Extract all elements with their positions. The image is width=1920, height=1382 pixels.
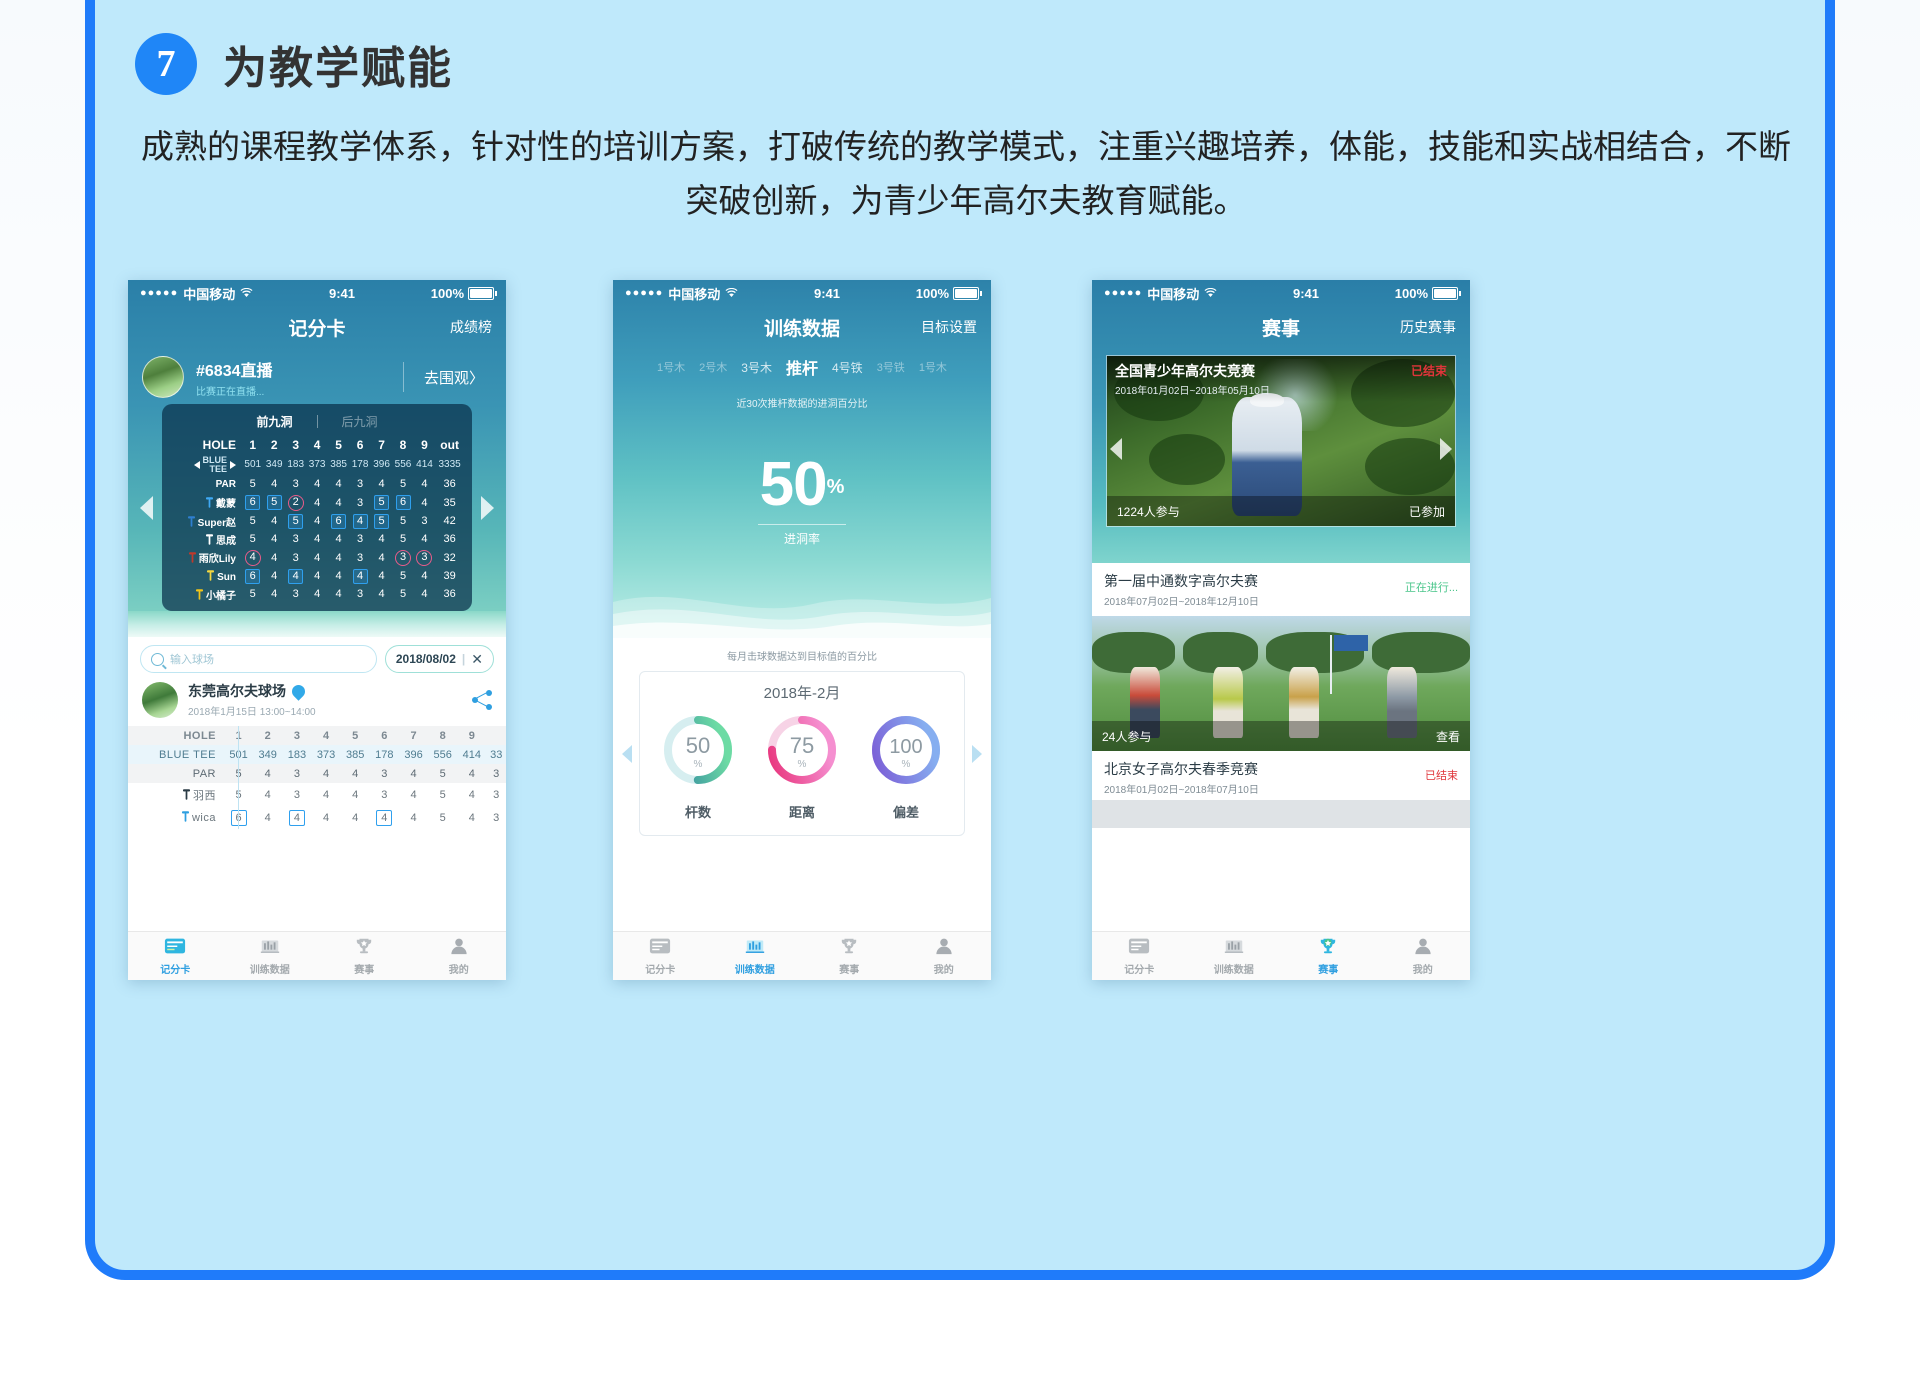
score-cell: 4	[371, 530, 392, 548]
club-tab[interactable]: 3号铁	[877, 359, 905, 375]
score-cell: 3	[349, 530, 370, 548]
phone-scorecard: ●●●●● 中国移动 9:41 100% 记分卡 成	[128, 280, 506, 980]
nav-title: 训练数据	[764, 314, 840, 341]
par-cell: 5	[242, 475, 263, 493]
ring-label: 距离	[763, 802, 841, 821]
filter-row: 输入球场 2018/08/02 | ✕	[128, 637, 506, 679]
yardage-cell: 385	[341, 745, 370, 764]
wifi-icon	[1204, 288, 1217, 298]
hole-number: 4	[311, 726, 340, 745]
tab-trophy[interactable]: 赛事	[317, 932, 412, 980]
score-cell: 6	[328, 512, 349, 530]
chevron-left-icon[interactable]	[622, 745, 632, 763]
score-cell: 4	[414, 493, 435, 512]
player-name: wica	[128, 806, 224, 829]
battery-percent-label: 100%	[1395, 286, 1428, 301]
course-row[interactable]: 东莞高尔夫球场 2018年1月15日 13:00~14:00	[128, 679, 506, 726]
par-cell: 3	[349, 475, 370, 493]
hole-number: 4	[306, 436, 327, 454]
tab-training-data[interactable]: 训练数据	[1187, 932, 1282, 980]
watch-live-button[interactable]: 去围观〉	[416, 367, 492, 388]
yardage-cell: 414	[457, 745, 486, 764]
training-data-icon	[744, 937, 766, 958]
tab-scorecard[interactable]: 记分卡	[1092, 932, 1187, 980]
ring-label: 偏差	[867, 802, 945, 821]
section-description: 成熟的课程教学体系，针对性的培训方案，打破传统的教学模式，注重兴趣培养，体能，技…	[131, 120, 1801, 229]
rings-card: 2018年-2月 50%杆数75%距离100%偏差	[639, 671, 965, 836]
par-cell: 5	[392, 475, 413, 493]
date-filter[interactable]: 2018/08/02 | ✕	[385, 645, 494, 673]
score-cell: 3	[414, 548, 435, 567]
phone1-lower: 输入球场 2018/08/02 | ✕ 东莞高尔夫球场 2018年1月15日	[128, 637, 506, 829]
yardage-cell: 178	[370, 745, 399, 764]
score-cell: 6	[242, 567, 263, 585]
yardage-extra: 33	[486, 745, 506, 764]
score-cell: 4	[349, 567, 370, 585]
par-label: PAR	[170, 475, 242, 493]
score-cell: 4	[253, 806, 282, 829]
yardage-cell: 373	[306, 454, 327, 475]
search-icon	[151, 653, 164, 666]
score-cell: 4	[399, 806, 428, 829]
player-name: Super赵	[170, 512, 242, 530]
score-cell: 4	[414, 567, 435, 585]
scorecard-carousel: 前九洞 后九洞 HOLE123456789outBLUETEE501349183…	[140, 404, 494, 611]
score-cell: 5	[242, 530, 263, 548]
featured-event-card[interactable]: 全国青少年高尔夫竞赛 2018年01月02日~2018年05月10日 已结束 1…	[1106, 355, 1456, 527]
course-name-row: 东莞高尔夫球场	[188, 681, 316, 701]
tab-scorecard[interactable]: 记分卡	[613, 932, 708, 980]
rings-caption: 每月击球数据达到目标值的百分比	[613, 648, 991, 663]
search-input[interactable]: 输入球场	[140, 645, 377, 673]
tab-profile[interactable]: 我的	[897, 932, 992, 980]
club-tab[interactable]: 1号木	[657, 359, 685, 375]
par-cell: 5	[428, 764, 457, 783]
score-cell: 4	[263, 567, 284, 585]
svg-text:100: 100	[889, 736, 922, 758]
tab-bar[interactable]: 记分卡训练数据赛事我的	[613, 931, 991, 980]
yardage-cell: 396	[399, 745, 428, 764]
wave-decoration	[613, 568, 991, 638]
live-match-row[interactable]: #6834直播 比赛正在直播... 去围观〉	[128, 348, 506, 404]
list-item[interactable]: 北京女子高尔夫春季竞赛 2018年01月02日~2018年07月10日 已结束	[1092, 751, 1470, 800]
score-cell: 4	[263, 585, 284, 603]
signal-dots-icon: ●●●●●	[625, 287, 663, 299]
hole-number: 5	[328, 436, 349, 454]
phone1-navbar: 记分卡 成绩榜	[128, 306, 506, 348]
score-cell: 4	[414, 530, 435, 548]
tab-trophy[interactable]: 赛事	[1281, 932, 1376, 980]
hole-number: 8	[392, 436, 413, 454]
score-cell: 5	[428, 783, 457, 806]
hole-number: 5	[341, 726, 370, 745]
carrier-label: 中国移动	[668, 284, 720, 303]
phone-events: ●●●●● 中国移动 9:41 100% 赛事 历史赛	[1092, 280, 1470, 980]
progress-ring: 50%杆数	[659, 711, 737, 821]
score-total: 36	[435, 585, 464, 603]
battery-icon	[468, 287, 494, 300]
leaderboard-link[interactable]: 成绩榜	[450, 317, 492, 337]
chevron-left-icon[interactable]	[1110, 438, 1122, 460]
phone2-navbar: 训练数据 目标设置	[613, 306, 991, 348]
phone1-header: ●●●●● 中国移动 9:41 100% 记分卡 成	[128, 280, 506, 637]
tab-scorecard[interactable]: 记分卡	[128, 932, 223, 980]
score-cell: 3	[349, 493, 370, 512]
tab-training-data[interactable]: 训练数据	[223, 932, 318, 980]
score-cell: 4	[349, 512, 370, 530]
nine-hole-tabs[interactable]: 前九洞 后九洞	[170, 410, 464, 436]
yardage-cell: 349	[263, 454, 284, 475]
club-tabs[interactable]: 1号木2号木3号木推杆4号铁3号铁1号木	[613, 348, 991, 383]
status-badge: 已结束	[1411, 362, 1447, 379]
page-background: 7 为教学赋能 成熟的课程教学体系，针对性的培训方案，打破传统的教学模式，注重兴…	[0, 0, 1920, 1382]
score-cell: 4	[371, 567, 392, 585]
wifi-icon	[725, 288, 738, 298]
tab-label: 我的	[934, 961, 954, 976]
svg-text:75: 75	[790, 733, 814, 758]
scorecard-icon	[649, 937, 671, 958]
clock-label: 9:41	[329, 286, 355, 301]
nav-title: 赛事	[1262, 314, 1300, 341]
par-cell: 4	[457, 764, 486, 783]
hole-number: 1	[242, 436, 263, 454]
date-value: 2018/08/02	[396, 652, 456, 666]
score-total: 39	[435, 567, 464, 585]
tab-label: 我的	[449, 961, 469, 976]
scorecard-table: HOLE123456789outBLUETEE50134918337338517…	[170, 436, 464, 603]
wifi-icon	[240, 288, 253, 298]
hole-rate-stat: 50% 进洞率	[613, 454, 991, 547]
featured-event-header: 全国青少年高尔夫竞赛 2018年01月02日~2018年05月10日 已结束	[1107, 356, 1455, 402]
tab-training-data[interactable]: 训练数据	[708, 932, 803, 980]
score-cell: 5	[371, 493, 392, 512]
tab-bar[interactable]: 记分卡训练数据赛事我的	[128, 931, 506, 980]
table-row: 雨欣Lily44344343332	[170, 548, 464, 567]
trophy-icon	[838, 937, 860, 958]
par-cell: 4	[399, 764, 428, 783]
yardage-cell: 373	[311, 745, 340, 764]
player-name: 戴蒙	[170, 493, 242, 512]
tab-label: 赛事	[839, 961, 859, 976]
hole-number: 3	[282, 726, 311, 745]
player-name: 思成	[170, 530, 242, 548]
score-cell: 3	[370, 783, 399, 806]
par-cell: 4	[311, 764, 340, 783]
participants-count: 24人参与	[1102, 728, 1151, 745]
feature-panel: 7 为教学赋能 成熟的课程教学体系，针对性的培训方案，打破传统的教学模式，注重兴…	[85, 0, 1835, 1280]
chevron-right-icon[interactable]	[481, 496, 494, 520]
tab-trophy[interactable]: 赛事	[802, 932, 897, 980]
featured-event-date: 2018年01月02日~2018年05月10日	[1115, 382, 1447, 397]
event-footer: 24人参与 查看	[1092, 721, 1470, 751]
score-cell: 4	[311, 806, 340, 829]
carrier-label: 中国移动	[1147, 284, 1199, 303]
course-datetime: 2018年1月15日 13:00~14:00	[188, 703, 316, 718]
score-cell: 3	[414, 512, 435, 530]
hole-number: 2	[263, 436, 284, 454]
list-item[interactable]: 第一届中通数字高尔夫赛 2018年07月02日~2018年12月10日 正在进行…	[1092, 563, 1470, 612]
score-total: 32	[435, 548, 464, 567]
par-total: 36	[435, 475, 464, 493]
par-extra: 3	[486, 764, 506, 783]
trophy-icon	[1317, 937, 1339, 958]
score-cell: 4	[263, 530, 284, 548]
score-cell: 4	[306, 493, 327, 512]
score-cell: 5	[263, 493, 284, 512]
course-avatar	[142, 682, 178, 718]
featured-event-title: 全国青少年高尔夫竞赛	[1115, 361, 1447, 381]
tab-bar[interactable]: 记分卡训练数据赛事我的	[1092, 931, 1470, 980]
svg-text:%: %	[902, 759, 911, 770]
par-cell: 4	[306, 475, 327, 493]
yardage-cell: 183	[282, 745, 311, 764]
score-cell: 4	[457, 783, 486, 806]
table-row: Super赵54546455342	[170, 512, 464, 530]
score-cell: 4	[263, 512, 284, 530]
score-cell: 3	[282, 783, 311, 806]
score-cell: 4	[242, 548, 263, 567]
score-cell: 4	[399, 783, 428, 806]
score-total: 35	[435, 493, 464, 512]
chevron-right-icon[interactable]	[1440, 438, 1452, 460]
club-tab[interactable]: 推杆	[786, 355, 818, 379]
chevron-left-icon[interactable]	[140, 496, 153, 520]
score-cell: 4	[306, 530, 327, 548]
score-cell: 2	[285, 493, 306, 512]
status-badge: 正在进行...	[1405, 579, 1458, 595]
stat-unit: %	[827, 476, 845, 498]
location-pin-icon	[289, 682, 307, 700]
score-cell: 4	[371, 548, 392, 567]
scorecard-icon	[1128, 937, 1150, 958]
par-cell: 3	[285, 475, 306, 493]
score-cell: 4	[328, 493, 349, 512]
hole-number: 9	[457, 726, 486, 745]
svg-text:50: 50	[686, 733, 710, 758]
tab-back-nine[interactable]: 后九洞	[342, 413, 378, 430]
player-name: 羽西	[128, 783, 224, 806]
score-total: 36	[435, 530, 464, 548]
par-cell: 4	[263, 475, 284, 493]
chevron-right-icon[interactable]	[972, 745, 982, 763]
score-cell: 4	[414, 585, 435, 603]
tab-label: 记分卡	[645, 961, 675, 976]
score-extra: 3	[486, 806, 506, 829]
event-date: 2018年01月02日~2018年07月10日	[1104, 781, 1458, 796]
hole-number: 2	[253, 726, 282, 745]
yardage-cell: 349	[253, 745, 282, 764]
profile-icon	[933, 937, 955, 958]
par-cell: 3	[370, 764, 399, 783]
divider	[403, 362, 404, 392]
battery-percent-label: 100%	[916, 286, 949, 301]
yardage-cell: 414	[414, 454, 435, 475]
profile-icon	[448, 937, 470, 958]
score-cell: 4	[306, 548, 327, 567]
player-name: 雨欣Lily	[170, 548, 242, 567]
table-row: 思成54344345436	[170, 530, 464, 548]
yardage-cell: 178	[349, 454, 370, 475]
score-total: 42	[435, 512, 464, 530]
battery-percent-label: 100%	[431, 286, 464, 301]
training-data-icon	[1223, 937, 1245, 958]
tab-label: 训练数据	[250, 961, 290, 976]
share-icon[interactable]	[472, 690, 492, 710]
tab-label: 赛事	[354, 961, 374, 976]
score-cell: 4	[306, 585, 327, 603]
divider	[317, 415, 318, 428]
phone-training-data: ●●●●● 中国移动 9:41 100% 训练数据 目	[613, 280, 991, 980]
table-row: 羽西5434434543	[128, 783, 506, 806]
phone3-header: ●●●●● 中国移动 9:41 100% 赛事 历史赛	[1092, 280, 1470, 563]
score-cell: 3	[349, 585, 370, 603]
tab-profile[interactable]: 我的	[1376, 932, 1471, 980]
tee-label: BLUE TEE	[128, 745, 224, 764]
tab-profile[interactable]: 我的	[412, 932, 507, 980]
featured-event-photo: 全国青少年高尔夫竞赛 2018年01月02日~2018年05月10日 已结束 1…	[1107, 356, 1455, 526]
course-thumbnail	[142, 356, 184, 398]
tab-label: 赛事	[1318, 961, 1338, 976]
progress-rings: 50%杆数75%距离100%偏差	[646, 711, 958, 821]
progress-ring: 75%距离	[763, 711, 841, 821]
yardage-cell: 556	[392, 454, 413, 475]
hole-number: 7	[371, 436, 392, 454]
score-cell: 6	[392, 493, 413, 512]
score-cell: 4	[263, 548, 284, 567]
score-cell: 4	[371, 585, 392, 603]
battery-icon	[1432, 287, 1458, 300]
section-number-badge: 7	[135, 33, 197, 95]
par-cell: 4	[341, 764, 370, 783]
chart-caption: 近30次推杆数据的进洞百分比	[613, 395, 991, 410]
rings-title: 2018年-2月	[646, 682, 958, 703]
clock-label: 9:41	[814, 286, 840, 301]
score-cell: 5	[371, 512, 392, 530]
yardage-cell: 385	[328, 454, 349, 475]
score-cell: 3	[285, 530, 306, 548]
training-data-icon	[259, 937, 281, 958]
yardage-total: 3335	[435, 454, 464, 475]
par-cell: 4	[414, 475, 435, 493]
live-subtitle: 比赛正在直播...	[196, 383, 391, 398]
score-cell: 4	[328, 548, 349, 567]
table-row: Sun64444445439	[170, 567, 464, 585]
score-cell: 4	[306, 512, 327, 530]
history-events-link[interactable]: 历史赛事	[1400, 317, 1456, 337]
par-cell: 4	[328, 475, 349, 493]
player-name: Sun	[170, 567, 242, 585]
score-cell: 4	[328, 530, 349, 548]
score-cell: 4	[328, 567, 349, 585]
score-cell: 4	[328, 585, 349, 603]
table-row: 戴蒙65244356435	[170, 493, 464, 512]
hole-number: 7	[399, 726, 428, 745]
hole-number: 9	[414, 436, 435, 454]
event-title: 北京女子高尔夫春季竞赛	[1104, 759, 1458, 779]
stat-label: 进洞率	[613, 530, 991, 547]
club-tab[interactable]: 1号木	[919, 359, 947, 375]
hole-header-label: HOLE	[128, 726, 224, 745]
score-cell: 4	[341, 806, 370, 829]
score-cell: 5	[392, 530, 413, 548]
signal-dots-icon: ●●●●●	[1104, 287, 1142, 299]
yardage-cell: 501	[242, 454, 263, 475]
club-tab[interactable]: 4号铁	[832, 359, 863, 376]
table-row: wica6444444543	[128, 806, 506, 829]
event-photo[interactable]	[1092, 800, 1470, 828]
tab-label: 训练数据	[1214, 961, 1254, 976]
nav-title: 记分卡	[288, 314, 345, 341]
score-cell: 5	[285, 512, 306, 530]
table-row: 小橘子54344345436	[170, 585, 464, 603]
close-icon[interactable]: ✕	[471, 651, 483, 668]
tab-label: 记分卡	[1124, 961, 1154, 976]
score-cell: 4	[285, 567, 306, 585]
scorecard-icon	[164, 937, 186, 958]
view-button[interactable]: 查看	[1436, 728, 1460, 745]
search-placeholder: 输入球场	[170, 651, 214, 667]
score-cell: 5	[392, 512, 413, 530]
status-bar: ●●●●● 中国移动 9:41 100%	[1092, 280, 1470, 306]
course-name: 东莞高尔夫球场	[188, 681, 286, 701]
goal-settings-link[interactable]: 目标设置	[921, 317, 977, 337]
trophy-icon	[353, 937, 375, 958]
phone2-header: ●●●●● 中国移动 9:41 100% 训练数据 目	[613, 280, 991, 638]
svg-text:%: %	[798, 759, 807, 770]
event-date: 2018年07月02日~2018年12月10日	[1104, 593, 1458, 608]
score-cell: 3	[285, 585, 306, 603]
score-cell: 3	[349, 548, 370, 567]
participants-count: 1224人参与	[1117, 503, 1180, 520]
ring-label: 杆数	[659, 802, 737, 821]
live-title: #6834直播	[196, 357, 391, 381]
hole-number: 3	[285, 436, 306, 454]
phone-mockups: ●●●●● 中国移动 9:41 100% 记分卡 成	[95, 280, 1825, 1020]
battery-icon	[953, 287, 979, 300]
score-cell: 6	[242, 493, 263, 512]
section-heading: 7 为教学赋能	[135, 32, 453, 96]
score-cell: 4	[341, 783, 370, 806]
event-photo[interactable]: 24人参与 查看	[1092, 616, 1470, 751]
tab-front-nine[interactable]: 前九洞	[256, 413, 292, 430]
yardage-cell: 556	[428, 745, 457, 764]
profile-icon	[1412, 937, 1434, 958]
status-badge: 已结束	[1425, 767, 1458, 783]
join-status-button[interactable]: 已参加	[1409, 503, 1445, 520]
score-cell: 5	[242, 585, 263, 603]
tee-label: BLUETEE	[170, 454, 242, 475]
hole-header-label: HOLE	[170, 436, 242, 454]
progress-ring: 100%偏差	[867, 711, 945, 821]
score-cell: 3	[392, 548, 413, 567]
tab-label: 训练数据	[735, 961, 775, 976]
column-divider	[238, 726, 239, 829]
phone3-navbar: 赛事 历史赛事	[1092, 306, 1470, 348]
scorecard-panel: 前九洞 后九洞 HOLE123456789outBLUETEE501349183…	[162, 404, 472, 611]
par-label: PAR	[128, 764, 224, 783]
par-cell: 4	[371, 475, 392, 493]
stat-value: 50	[760, 450, 827, 519]
score-cell: 5	[242, 512, 263, 530]
tab-label: 记分卡	[160, 961, 190, 976]
event-list: 第一届中通数字高尔夫赛 2018年07月02日~2018年12月10日 正在进行…	[1092, 563, 1470, 828]
carrier-label: 中国移动	[183, 284, 235, 303]
club-tab[interactable]: 3号木	[741, 359, 772, 376]
hole-number: 6	[370, 726, 399, 745]
club-tab[interactable]: 2号木	[699, 359, 727, 375]
svg-text:%: %	[694, 759, 703, 770]
score-cell: 5	[428, 806, 457, 829]
